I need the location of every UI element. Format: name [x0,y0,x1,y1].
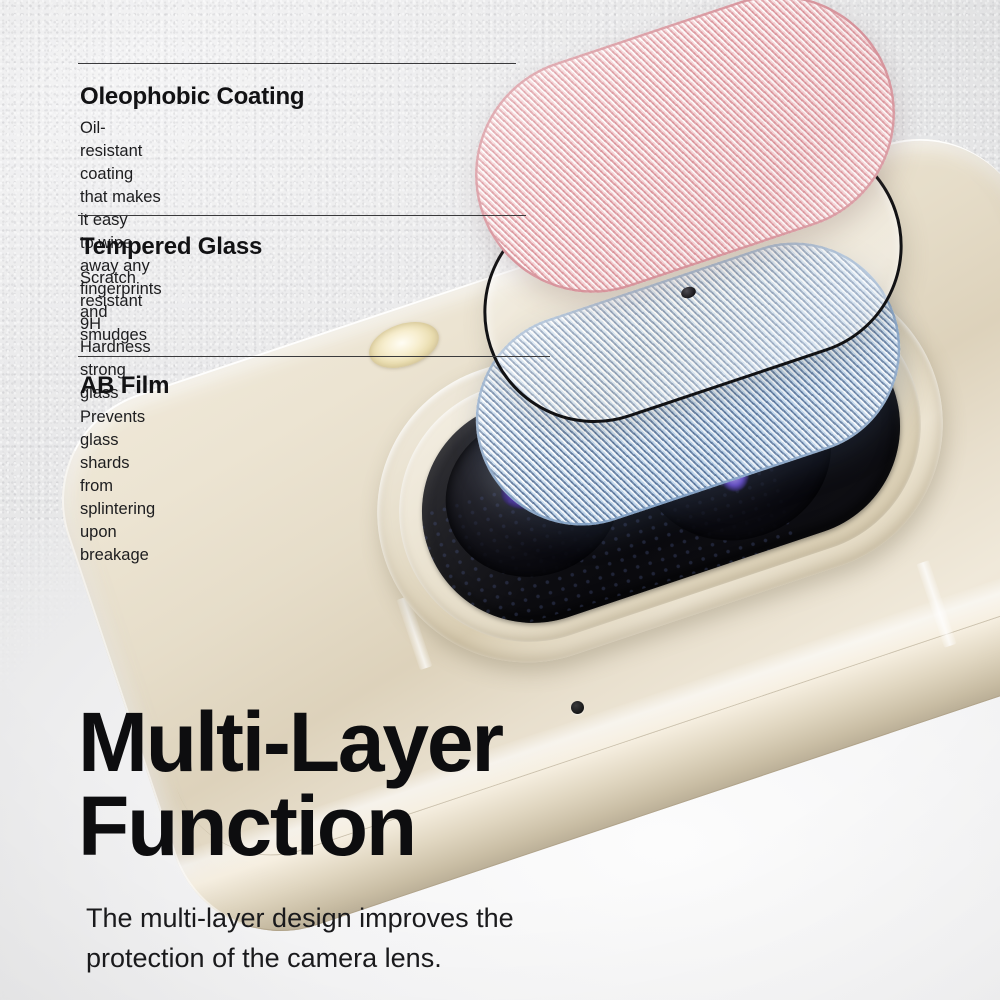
page-headline: Multi-Layer Function [78,700,502,868]
product-feature-image: Oleophobic Coating Oil-resistant coating… [0,0,1000,1000]
page-subheadline: The multi-layer design improves the prot… [86,898,514,978]
